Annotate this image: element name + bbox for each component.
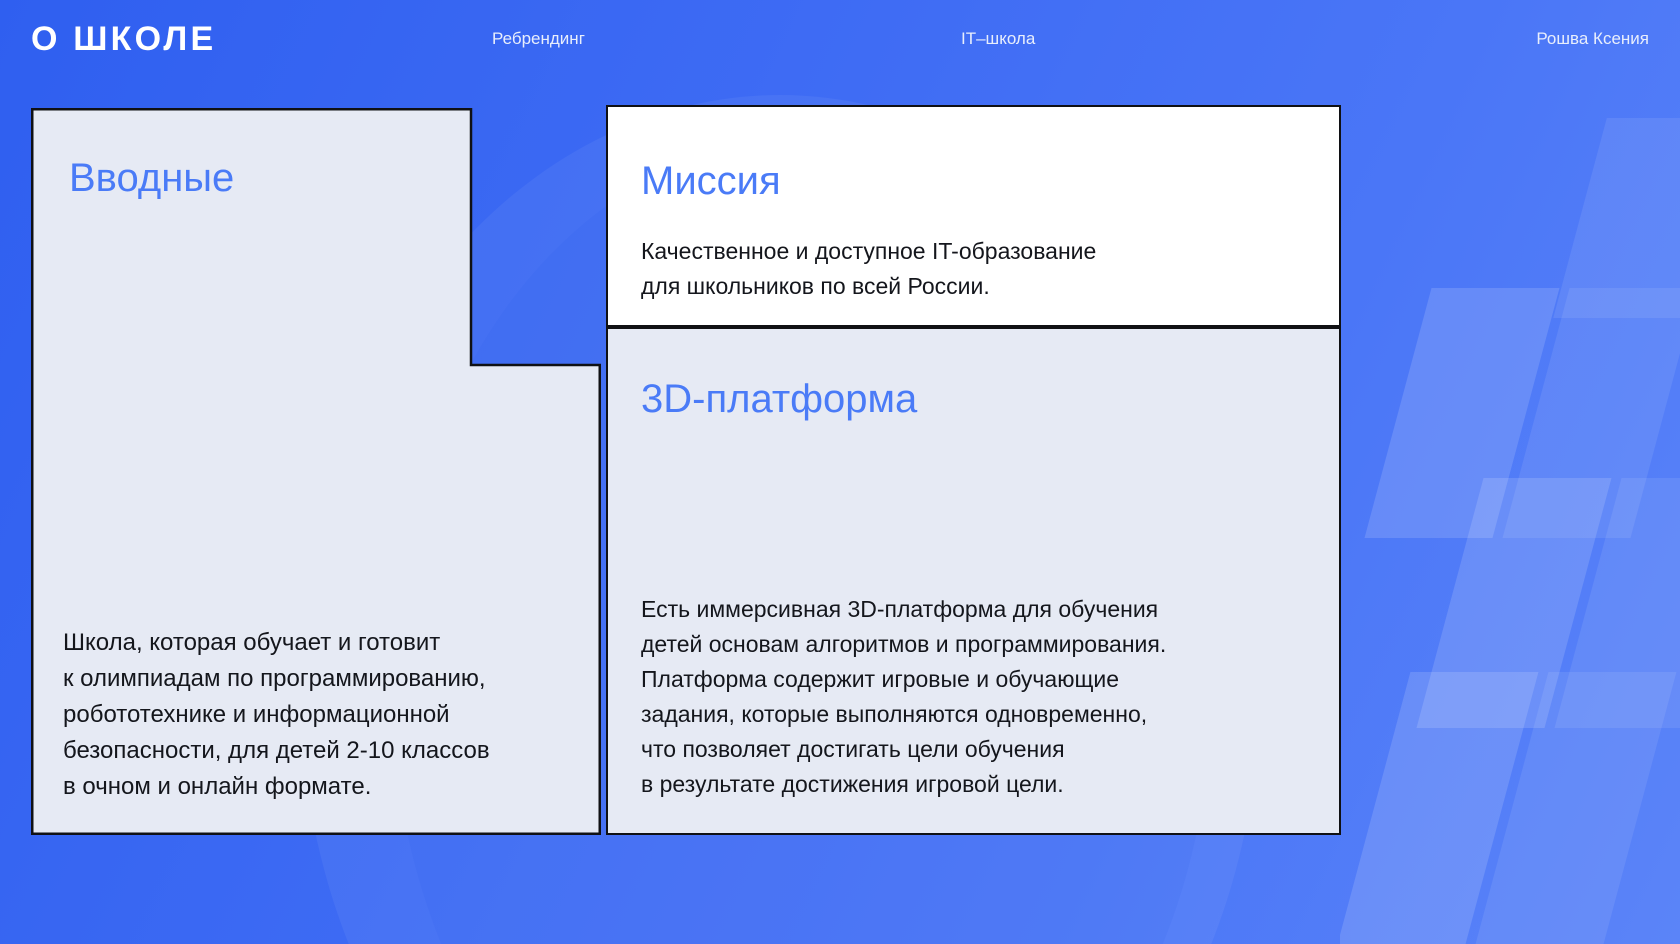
slide-header: О ШКОЛЕ Ребрендинг IT–школа Рошва Ксения: [0, 0, 1680, 84]
card-mission-body: Качественное и доступное IT-образование …: [641, 234, 1311, 304]
background-parallelogram-pattern-icon: [1340, 0, 1680, 944]
card-intro-title: Вводные: [69, 156, 234, 200]
card-intro: Вводные Школа, которая обучает и готовит…: [31, 108, 601, 835]
page-title: О ШКОЛЕ: [31, 22, 216, 56]
card-platform-title: 3D-платформа: [641, 377, 917, 421]
slide-canvas: О ШКОЛЕ Ребрендинг IT–школа Рошва Ксения…: [0, 0, 1680, 944]
nav-item-rebranding[interactable]: Ребрендинг: [492, 29, 585, 49]
card-platform: 3D-платформа Есть иммерсивная 3D-платфор…: [606, 327, 1341, 835]
card-mission-title: Миссия: [641, 159, 781, 203]
nav-item-author[interactable]: Рошва Ксения: [1536, 29, 1649, 49]
card-mission: Миссия Качественное и доступное IT-образ…: [606, 105, 1341, 327]
card-platform-body: Есть иммерсивная 3D-платформа для обучен…: [641, 592, 1321, 802]
nav-item-it-school[interactable]: IT–школа: [961, 29, 1035, 49]
card-intro-body: Школа, которая обучает и готовит к олимп…: [63, 625, 583, 805]
